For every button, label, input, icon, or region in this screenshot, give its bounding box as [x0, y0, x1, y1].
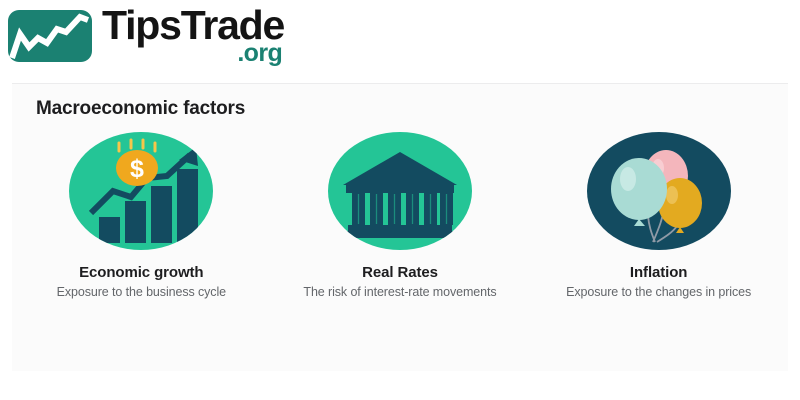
logo-mark [8, 10, 92, 62]
factor-title-economic-growth: Economic growth [79, 264, 203, 281]
factor-subtitle-inflation: Exposure to the changes in prices [566, 285, 751, 299]
factor-subtitle-economic-growth: Exposure to the business cycle [57, 285, 226, 299]
line-chart-uptrend-icon [8, 10, 92, 62]
icon-circle-economic-growth: $ [69, 132, 213, 250]
icon-circle-real-rates [328, 132, 472, 250]
page-root: TipsTrade .org Macroeconomic factors [0, 0, 800, 400]
bank-building-icon [328, 132, 472, 250]
brand-header[interactable]: TipsTrade .org [8, 6, 284, 66]
factor-subtitle-real-rates: The risk of interest-rate movements [303, 285, 496, 299]
factor-card-real-rates[interactable]: Real Rates The risk of interest-rate mov… [275, 132, 525, 299]
brand-text-block: TipsTrade .org [102, 6, 284, 66]
balloons-icon [587, 132, 731, 250]
content-panel: Macroeconomic factors [12, 83, 788, 371]
bar-chart-growth-coin-icon: $ [69, 132, 213, 250]
factor-title-real-rates: Real Rates [362, 264, 438, 281]
factor-card-economic-growth[interactable]: $ Economic growth Exposure to the busine… [16, 132, 266, 299]
factor-title-inflation: Inflation [630, 264, 687, 281]
factor-card-list: $ Economic growth Exposure to the busine… [12, 132, 788, 299]
icon-circle-inflation [587, 132, 731, 250]
svg-text:$: $ [130, 155, 144, 183]
page-title: Macroeconomic factors [36, 98, 245, 120]
factor-card-inflation[interactable]: Inflation Exposure to the changes in pri… [534, 132, 784, 299]
